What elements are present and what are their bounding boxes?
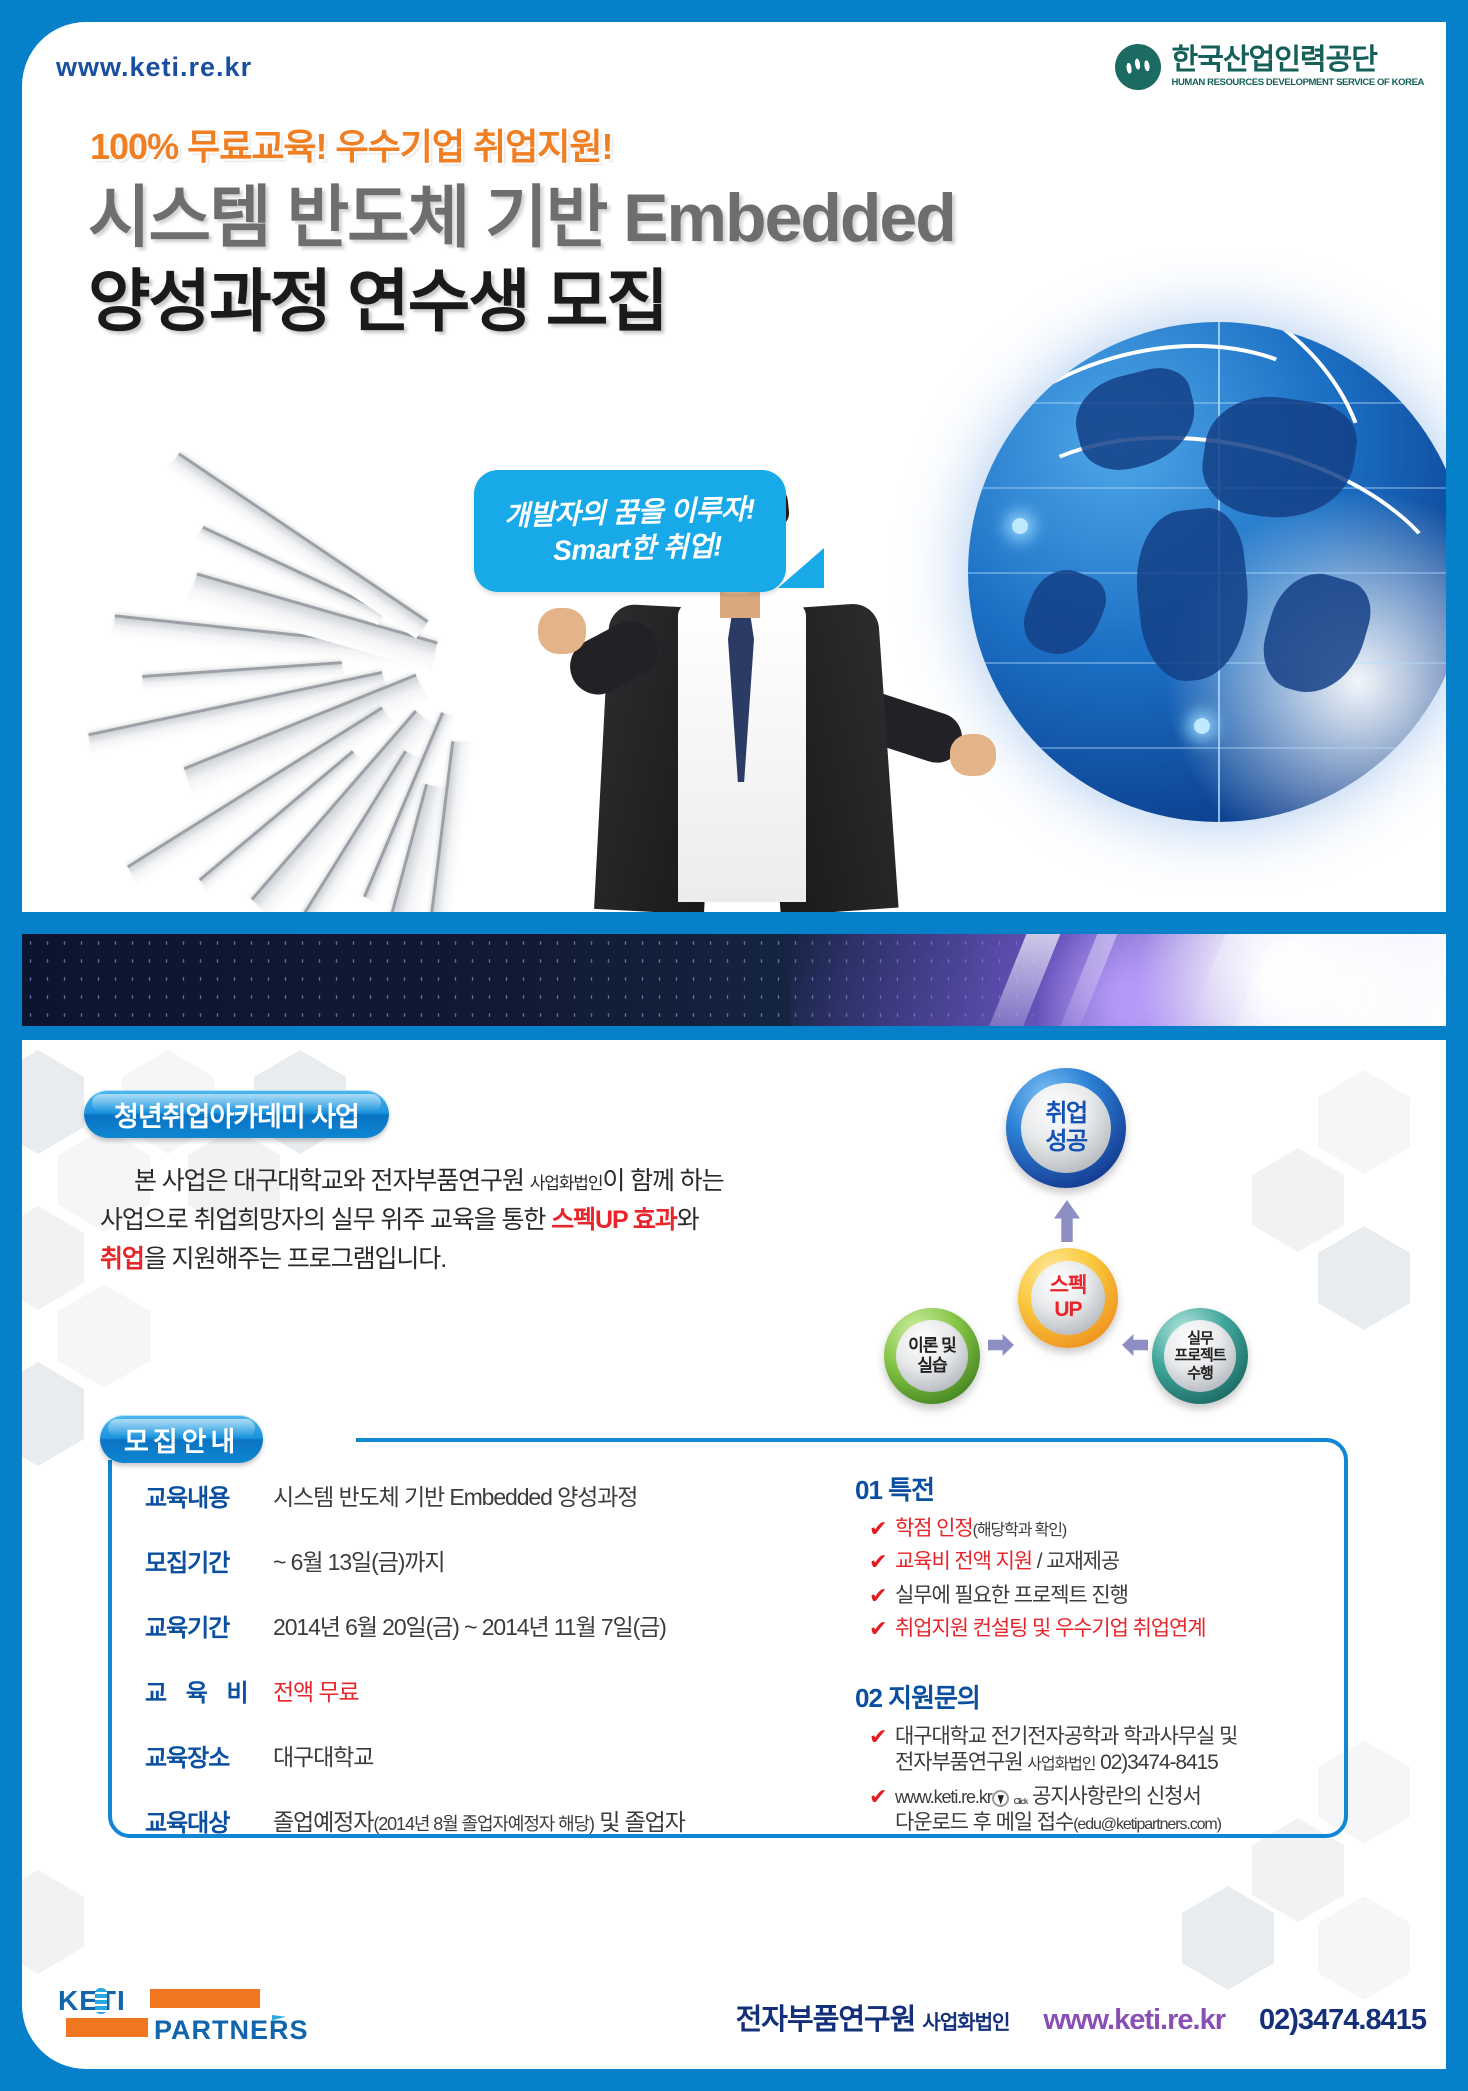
- row-key: 교육기간: [145, 1608, 273, 1643]
- hrd-logo-english: HUMAN RESOURCES DEVELOPMENT SERVICE OF K…: [1172, 78, 1424, 88]
- footer-org-main: 전자부품연구원: [736, 2004, 923, 2036]
- academy-p-l2red: 스펙UP 효과: [551, 1206, 677, 1234]
- table-row: 교육기간 2014년 6월 20일(금) ~ 2014년 11월 7일(금): [145, 1608, 785, 1643]
- row-value-composite: 졸업예정자(2014년 8월 졸업자예정자 해당) 및 졸업자: [273, 1803, 685, 1837]
- list-item-text: 대구대학교 전기전자공학과 학과사무실 및 전자부품연구원 사업화법인 02)3…: [895, 1724, 1237, 1777]
- academy-paragraph-line1: 본 사업은 대구대학교와 전자부품연구원 사업화법인이 함께 하는: [100, 1162, 780, 1201]
- orb-project-line2: 프로젝트: [1174, 1347, 1225, 1364]
- hero-title-line2: 양성과정 연수생 모집: [88, 246, 667, 345]
- orb-success-line2: 성공: [1045, 1128, 1086, 1156]
- inquiry-contact-line1: 대구대학교 전기전자공학과 학과사무실 및: [895, 1724, 1237, 1750]
- check-icon: ✔: [869, 1724, 895, 1750]
- tech-network-banner-icon: [22, 934, 1446, 1026]
- inquiry-list: ✔ 대구대학교 전기전자공학과 학과사무실 및 전자부품연구원 사업화법인 02…: [855, 1724, 1325, 1836]
- recruit-info-rows: 교육내용 시스템 반도체 기반 Embedded 양성과정 모집기간 ~ 6월 …: [145, 1478, 785, 1868]
- list-item: ✔ 대구대학교 전기전자공학과 학과사무실 및 전자부품연구원 사업화법인 02…: [869, 1724, 1325, 1777]
- list-item: ✔ 취업지원 컨설팅 및 우수기업 취업연계: [869, 1616, 1325, 1642]
- diagram-orb-success: 취업 성공: [1006, 1068, 1126, 1188]
- list-item-text: 실무에 필요한 프로젝트 진행: [895, 1583, 1128, 1609]
- footer-org: 전자부품연구원 사업화법인: [736, 1996, 1010, 2038]
- academy-p-l1small: 사업화법인: [530, 1174, 603, 1193]
- hrd-korea-logo: 한국산업인력공단 HUMAN RESOURCES DEVELOPMENT SER…: [1115, 44, 1424, 90]
- mouse-cursor-icon: [992, 1790, 1014, 1805]
- orb-spec-line1: 스펙: [1050, 1274, 1087, 1298]
- adv-note-0: (해당학과 확인): [973, 1522, 1067, 1539]
- orb-theory-line2: 실습: [908, 1356, 956, 1376]
- arrow-left-icon: [1122, 1334, 1148, 1356]
- poster-root: www.keti.re.kr 한국산업인력공단 HUMAN RESOURCES …: [0, 0, 1468, 2091]
- row-value-note: (2014년 8월 졸업자예정자 해당): [373, 1814, 594, 1834]
- table-row: 교육장소 대구대학교: [145, 1738, 785, 1773]
- inquiry-email[interactable]: (edu@ketipartners.com): [1073, 1816, 1221, 1833]
- section-title-recruit: 모집안내: [100, 1415, 263, 1463]
- speech-bubble-line2: Smart한 취업!: [539, 528, 723, 569]
- academy-p-l3b: 을 지원해주는 프로그램입니다.: [144, 1245, 446, 1273]
- academy-paragraph: 본 사업은 대구대학교와 전자부품연구원 사업화법인이 함께 하는 사업으로 취…: [100, 1162, 780, 1278]
- row-key: 교육대상: [145, 1803, 273, 1838]
- academy-p-l1b: 이 함께 하는: [602, 1167, 723, 1195]
- check-icon: ✔: [869, 1583, 895, 1609]
- row-value: ~ 6월 13일(금)까지: [273, 1543, 444, 1577]
- arrow-right-icon: [988, 1334, 1014, 1356]
- adv-tail-1: / 교재제공: [1032, 1550, 1119, 1573]
- hrd-korea-logo-icon: [1115, 44, 1161, 90]
- list-item: ✔ 학점 인정(해당학과 확인): [869, 1516, 1325, 1542]
- list-item: ✔ www.keti.re.krClick 공지사항란의 신청서 다운로드 후 …: [869, 1784, 1325, 1837]
- orb-spec-line2: UP: [1050, 1298, 1087, 1322]
- academy-p-l1a: 본 사업은 대구대학교와 전자부품연구원: [100, 1167, 530, 1195]
- row-value-main: 졸업예정자: [273, 1809, 373, 1835]
- inquiry-apply-line2: 다운로드 후 메일 접수(edu@ketipartners.com): [895, 1810, 1221, 1836]
- row-value: 대구대학교: [273, 1738, 373, 1772]
- advantages-list: ✔ 학점 인정(해당학과 확인) ✔ 교육비 전액 지원 / 교재제공 ✔ 실무…: [855, 1516, 1325, 1642]
- academy-p-l2b: 와: [677, 1206, 699, 1234]
- row-key: 모집기간: [145, 1543, 273, 1578]
- partners-logo-text: PARTNERS: [154, 2015, 309, 2046]
- row-value-tail: 및 졸업자: [594, 1809, 685, 1835]
- inquiry-contact-line2: 전자부품연구원 사업화법인 02)3474-8415: [895, 1750, 1237, 1776]
- inquiry-apply-tail: 공지사항란의 신청서: [1027, 1785, 1200, 1808]
- table-row: 교 육 비 전액 무료: [145, 1673, 785, 1708]
- hrd-logo-korean: 한국산업인력공단: [1172, 46, 1424, 75]
- section-title-academy: 청년취업아카데미 사업: [84, 1090, 389, 1138]
- orb-theory-line1: 이론 및: [908, 1336, 956, 1356]
- spec-up-diagram: 취업 성공 스펙 UP 이론 및 실습 실무 프로젝트 수행: [890, 1072, 1310, 1412]
- inquiry-section: 02 지원문의 ✔ 대구대학교 전기전자공학과 학과사무실 및 전자부품연구원 …: [855, 1678, 1325, 1843]
- world-globe-icon: [968, 322, 1446, 822]
- table-row: 모집기간 ~ 6월 13일(금)까지: [145, 1543, 785, 1578]
- inquiry-phone: 02)3474-8415: [1095, 1751, 1217, 1774]
- inquiry-heading: 02 지원문의: [855, 1678, 1325, 1715]
- advantages-heading: 01 특전: [855, 1470, 1325, 1507]
- keti-logo-text: KETI: [58, 1985, 126, 2017]
- footer-tel: 02)3474.8415: [1259, 2004, 1426, 2037]
- orb-success-line1: 취업: [1045, 1100, 1086, 1128]
- row-value: 시스템 반도체 기반 Embedded 양성과정: [273, 1478, 637, 1512]
- hero-panel: www.keti.re.kr 한국산업인력공단 HUMAN RESOURCES …: [22, 22, 1446, 912]
- click-label: Click: [1014, 1797, 1028, 1806]
- table-row: 교육대상 졸업예정자(2014년 8월 졸업자예정자 해당) 및 졸업자: [145, 1803, 785, 1838]
- inquiry-download: 다운로드 후 메일 접수: [895, 1811, 1073, 1834]
- academy-paragraph-line3: 취업을 지원해주는 프로그램입니다.: [100, 1240, 780, 1279]
- diagram-orb-spec-up: 스펙 UP: [1018, 1248, 1118, 1348]
- list-item-text: www.keti.re.krClick 공지사항란의 신청서 다운로드 후 메일…: [895, 1784, 1221, 1837]
- header-site-url[interactable]: www.keti.re.kr: [56, 52, 252, 83]
- academy-p-l3red: 취업: [100, 1245, 144, 1273]
- list-item-text: 교육비 전액 지원 / 교재제공: [895, 1549, 1119, 1575]
- inquiry-org-note: 사업화법인: [1027, 1756, 1095, 1773]
- academy-p-l2a: 사업으로 취업희망자의 실무 위주 교육을 통한: [100, 1206, 551, 1234]
- row-value: 2014년 6월 20일(금) ~ 2014년 11월 7일(금): [273, 1608, 666, 1642]
- inquiry-org: 전자부품연구원: [895, 1751, 1027, 1774]
- inquiry-apply-line1: www.keti.re.krClick 공지사항란의 신청서: [895, 1784, 1221, 1810]
- check-icon: ✔: [869, 1616, 895, 1642]
- row-key: 교육장소: [145, 1738, 273, 1773]
- footer-contact: 전자부품연구원 사업화법인 www.keti.re.kr 02)3474.841…: [736, 1996, 1426, 2038]
- inquiry-url[interactable]: www.keti.re.kr: [895, 1787, 992, 1807]
- orb-project-line3: 수행: [1174, 1365, 1225, 1382]
- hrd-logo-text: 한국산업인력공단 HUMAN RESOURCES DEVELOPMENT SER…: [1172, 46, 1424, 88]
- list-item: ✔ 교육비 전액 지원 / 교재제공: [869, 1549, 1325, 1575]
- adv-text-1: 교육비 전액 지원: [895, 1550, 1032, 1573]
- footer-url[interactable]: www.keti.re.kr: [1043, 2004, 1225, 2037]
- footer-org-note: 사업화법인: [922, 2012, 1009, 2034]
- list-item: ✔ 실무에 필요한 프로젝트 진행: [869, 1583, 1325, 1609]
- advantages-section: 01 특전 ✔ 학점 인정(해당학과 확인) ✔ 교육비 전액 지원 / 교재제…: [855, 1470, 1325, 1649]
- orb-project-line1: 실무: [1174, 1330, 1225, 1347]
- diagram-orb-project: 실무 프로젝트 수행: [1152, 1308, 1248, 1404]
- row-key: 교육내용: [145, 1478, 273, 1513]
- list-item-text: 학점 인정(해당학과 확인): [895, 1516, 1066, 1542]
- row-value: 전액 무료: [273, 1673, 359, 1707]
- arrow-up-icon: [1054, 1200, 1080, 1242]
- check-icon: ✔: [869, 1784, 895, 1810]
- adv-text-0: 학점 인정: [895, 1517, 973, 1540]
- row-key: 교 육 비: [145, 1673, 273, 1708]
- keti-partners-logo-icon: KETI PARTNERS: [58, 1985, 248, 2047]
- check-icon: ✔: [869, 1549, 895, 1575]
- check-icon: ✔: [869, 1516, 895, 1542]
- diagram-orb-theory: 이론 및 실습: [884, 1308, 980, 1404]
- speech-bubble-text: 개발자의 꿈을 이루자! Smart한 취업!: [472, 466, 787, 597]
- list-item-text: 취업지원 컨설팅 및 우수기업 취업연계: [895, 1616, 1205, 1642]
- academy-paragraph-line2: 사업으로 취업희망자의 실무 위주 교육을 통한 스펙UP 효과와: [100, 1201, 780, 1240]
- speech-bubble: 개발자의 꿈을 이루자! Smart한 취업!: [474, 470, 786, 592]
- table-row: 교육내용 시스템 반도체 기반 Embedded 양성과정: [145, 1478, 785, 1513]
